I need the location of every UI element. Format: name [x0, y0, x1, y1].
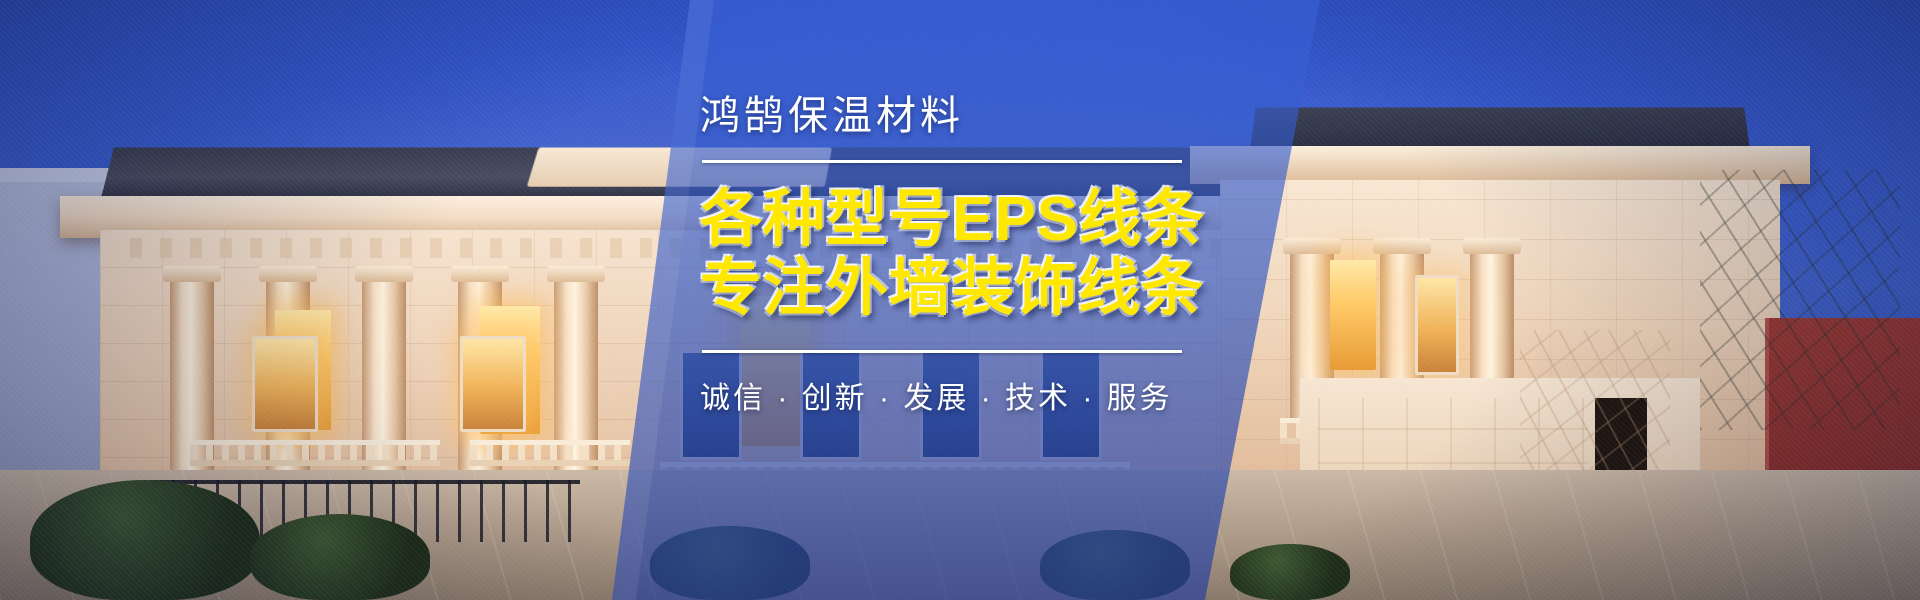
lit-window: [252, 336, 318, 432]
divider-top: [702, 160, 1182, 163]
shrub: [1040, 530, 1190, 600]
headline-line-1: 各种型号EPS线条: [700, 185, 1220, 254]
shrub: [30, 480, 260, 600]
banner-stage: 鸿鹄保温材料 各种型号EPS线条 专注外墙装饰线条 诚信 · 创新 · 发展 ·…: [0, 0, 1920, 600]
headline-block: 各种型号EPS线条 专注外墙装饰线条: [700, 185, 1220, 324]
headline-line-2: 专注外墙装饰线条: [700, 254, 1220, 323]
shrub: [1230, 544, 1350, 600]
shrub: [250, 514, 430, 600]
shrub: [650, 526, 810, 600]
lit-window: [1415, 275, 1459, 375]
balustrade: [470, 440, 630, 466]
right-wing-roof: [1250, 107, 1750, 150]
bare-tree: [1700, 170, 1900, 430]
banner-copy: 鸿鹄保温材料 各种型号EPS线条 专注外墙装饰线条 诚信 · 创新 · 发展 ·…: [700, 96, 1220, 417]
uplight-glow: [1330, 260, 1376, 370]
divider-bottom: [702, 350, 1182, 353]
tagline: 诚信 · 创新 · 发展 · 技术 · 服务: [700, 373, 1220, 417]
balustrade: [190, 440, 440, 466]
lit-window: [460, 336, 526, 432]
brand-name: 鸿鹄保温材料: [700, 96, 1220, 136]
